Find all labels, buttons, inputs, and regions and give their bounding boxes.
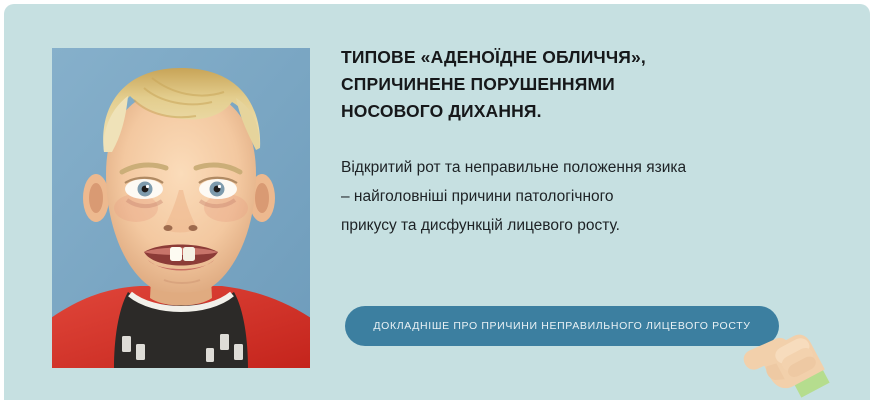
boy-adenoid-face-photo: [52, 48, 310, 368]
photo-frame: [48, 44, 314, 372]
cta-area: ДОКЛАДНІШЕ ПРО ПРИЧИНИ НЕПРАВИЛЬНОГО ЛИЦ…: [345, 306, 825, 396]
text-content: ТИПОВЕ «АДЕНОЇДНЕ ОБЛИЧЧЯ», СПРИЧИНЕНЕ П…: [341, 44, 841, 240]
promo-card: ТИПОВЕ «АДЕНОЇДНЕ ОБЛИЧЧЯ», СПРИЧИНЕНЕ П…: [4, 4, 870, 400]
learn-more-button[interactable]: ДОКЛАДНІШЕ ПРО ПРИЧИНИ НЕПРАВИЛЬНОГО ЛИЦ…: [345, 306, 779, 346]
body-paragraph: Відкритий рот та неправильне положення я…: [341, 125, 841, 240]
page-title: ТИПОВЕ «АДЕНОЇДНЕ ОБЛИЧЧЯ», СПРИЧИНЕНЕ П…: [341, 44, 841, 125]
